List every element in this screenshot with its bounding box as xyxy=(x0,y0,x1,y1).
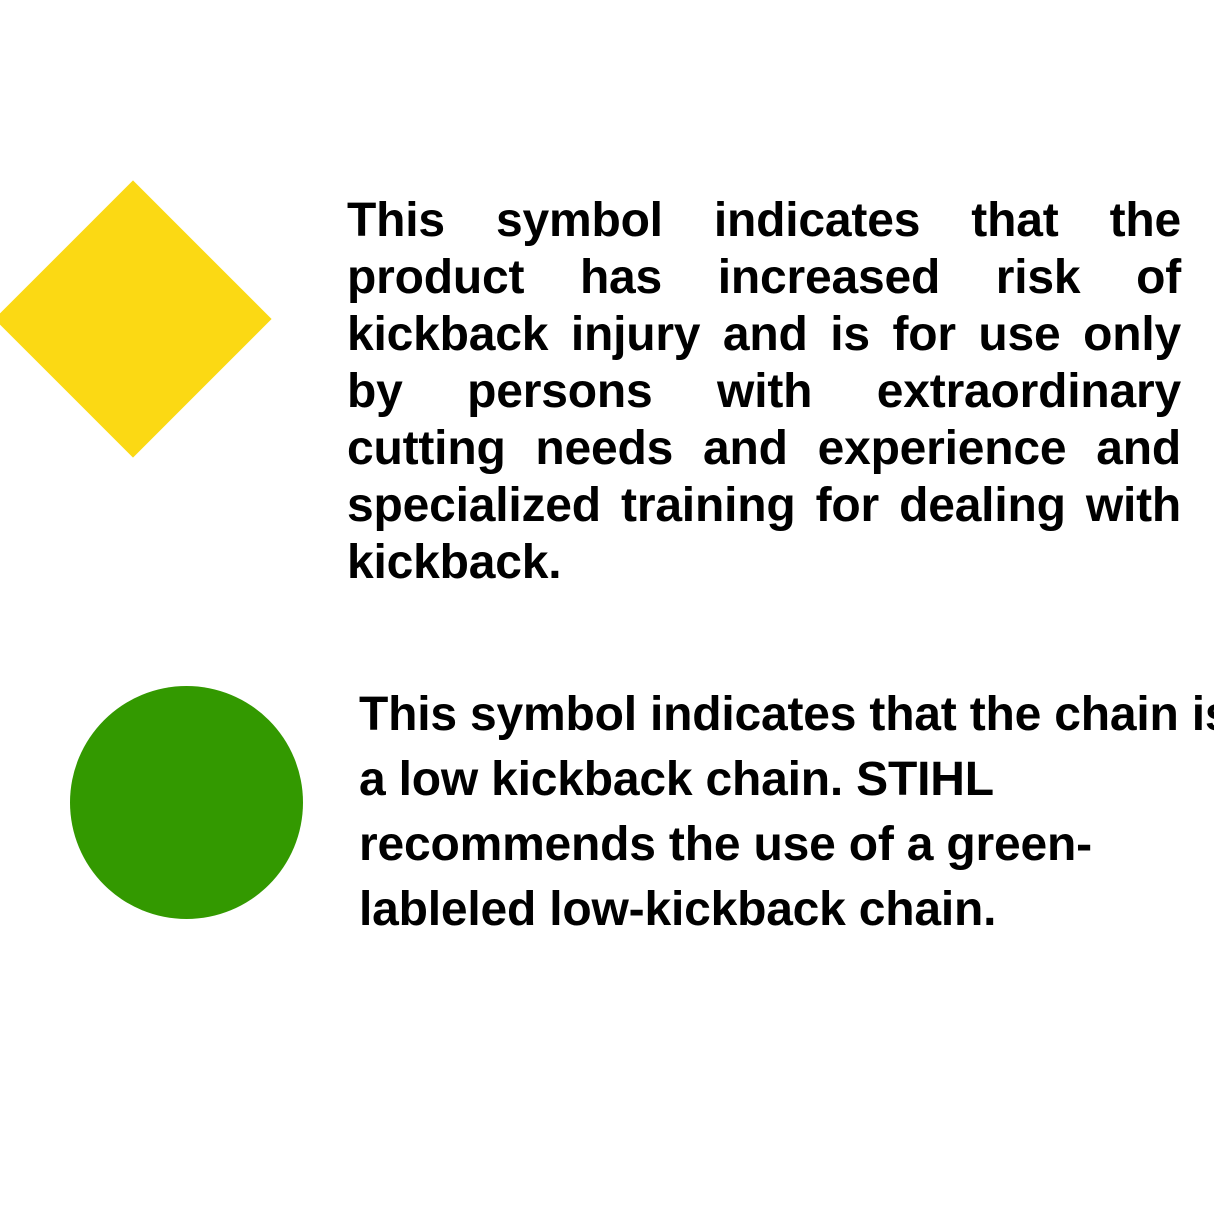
low-kickback-line-2: a low kickback chain. STIHL xyxy=(359,747,1204,812)
kickback-warning-text: This symbol indicates that the product h… xyxy=(347,192,1181,591)
low-kickback-line-3: recommends the use of a green- xyxy=(359,812,1204,877)
low-kickback-line-4: lableled low-kickback chain. xyxy=(359,877,1204,942)
yellow-diamond-symbol xyxy=(0,180,272,457)
green-circle-symbol xyxy=(70,686,303,919)
kickback-warning-body: This symbol indicates that the product h… xyxy=(347,194,1181,589)
symbol-legend-page: This symbol indicates that the product h… xyxy=(0,0,1214,1214)
low-kickback-text: This symbol indicates that the chain is … xyxy=(359,682,1204,942)
low-kickback-line-1: This symbol indicates that the chain is xyxy=(359,682,1204,747)
